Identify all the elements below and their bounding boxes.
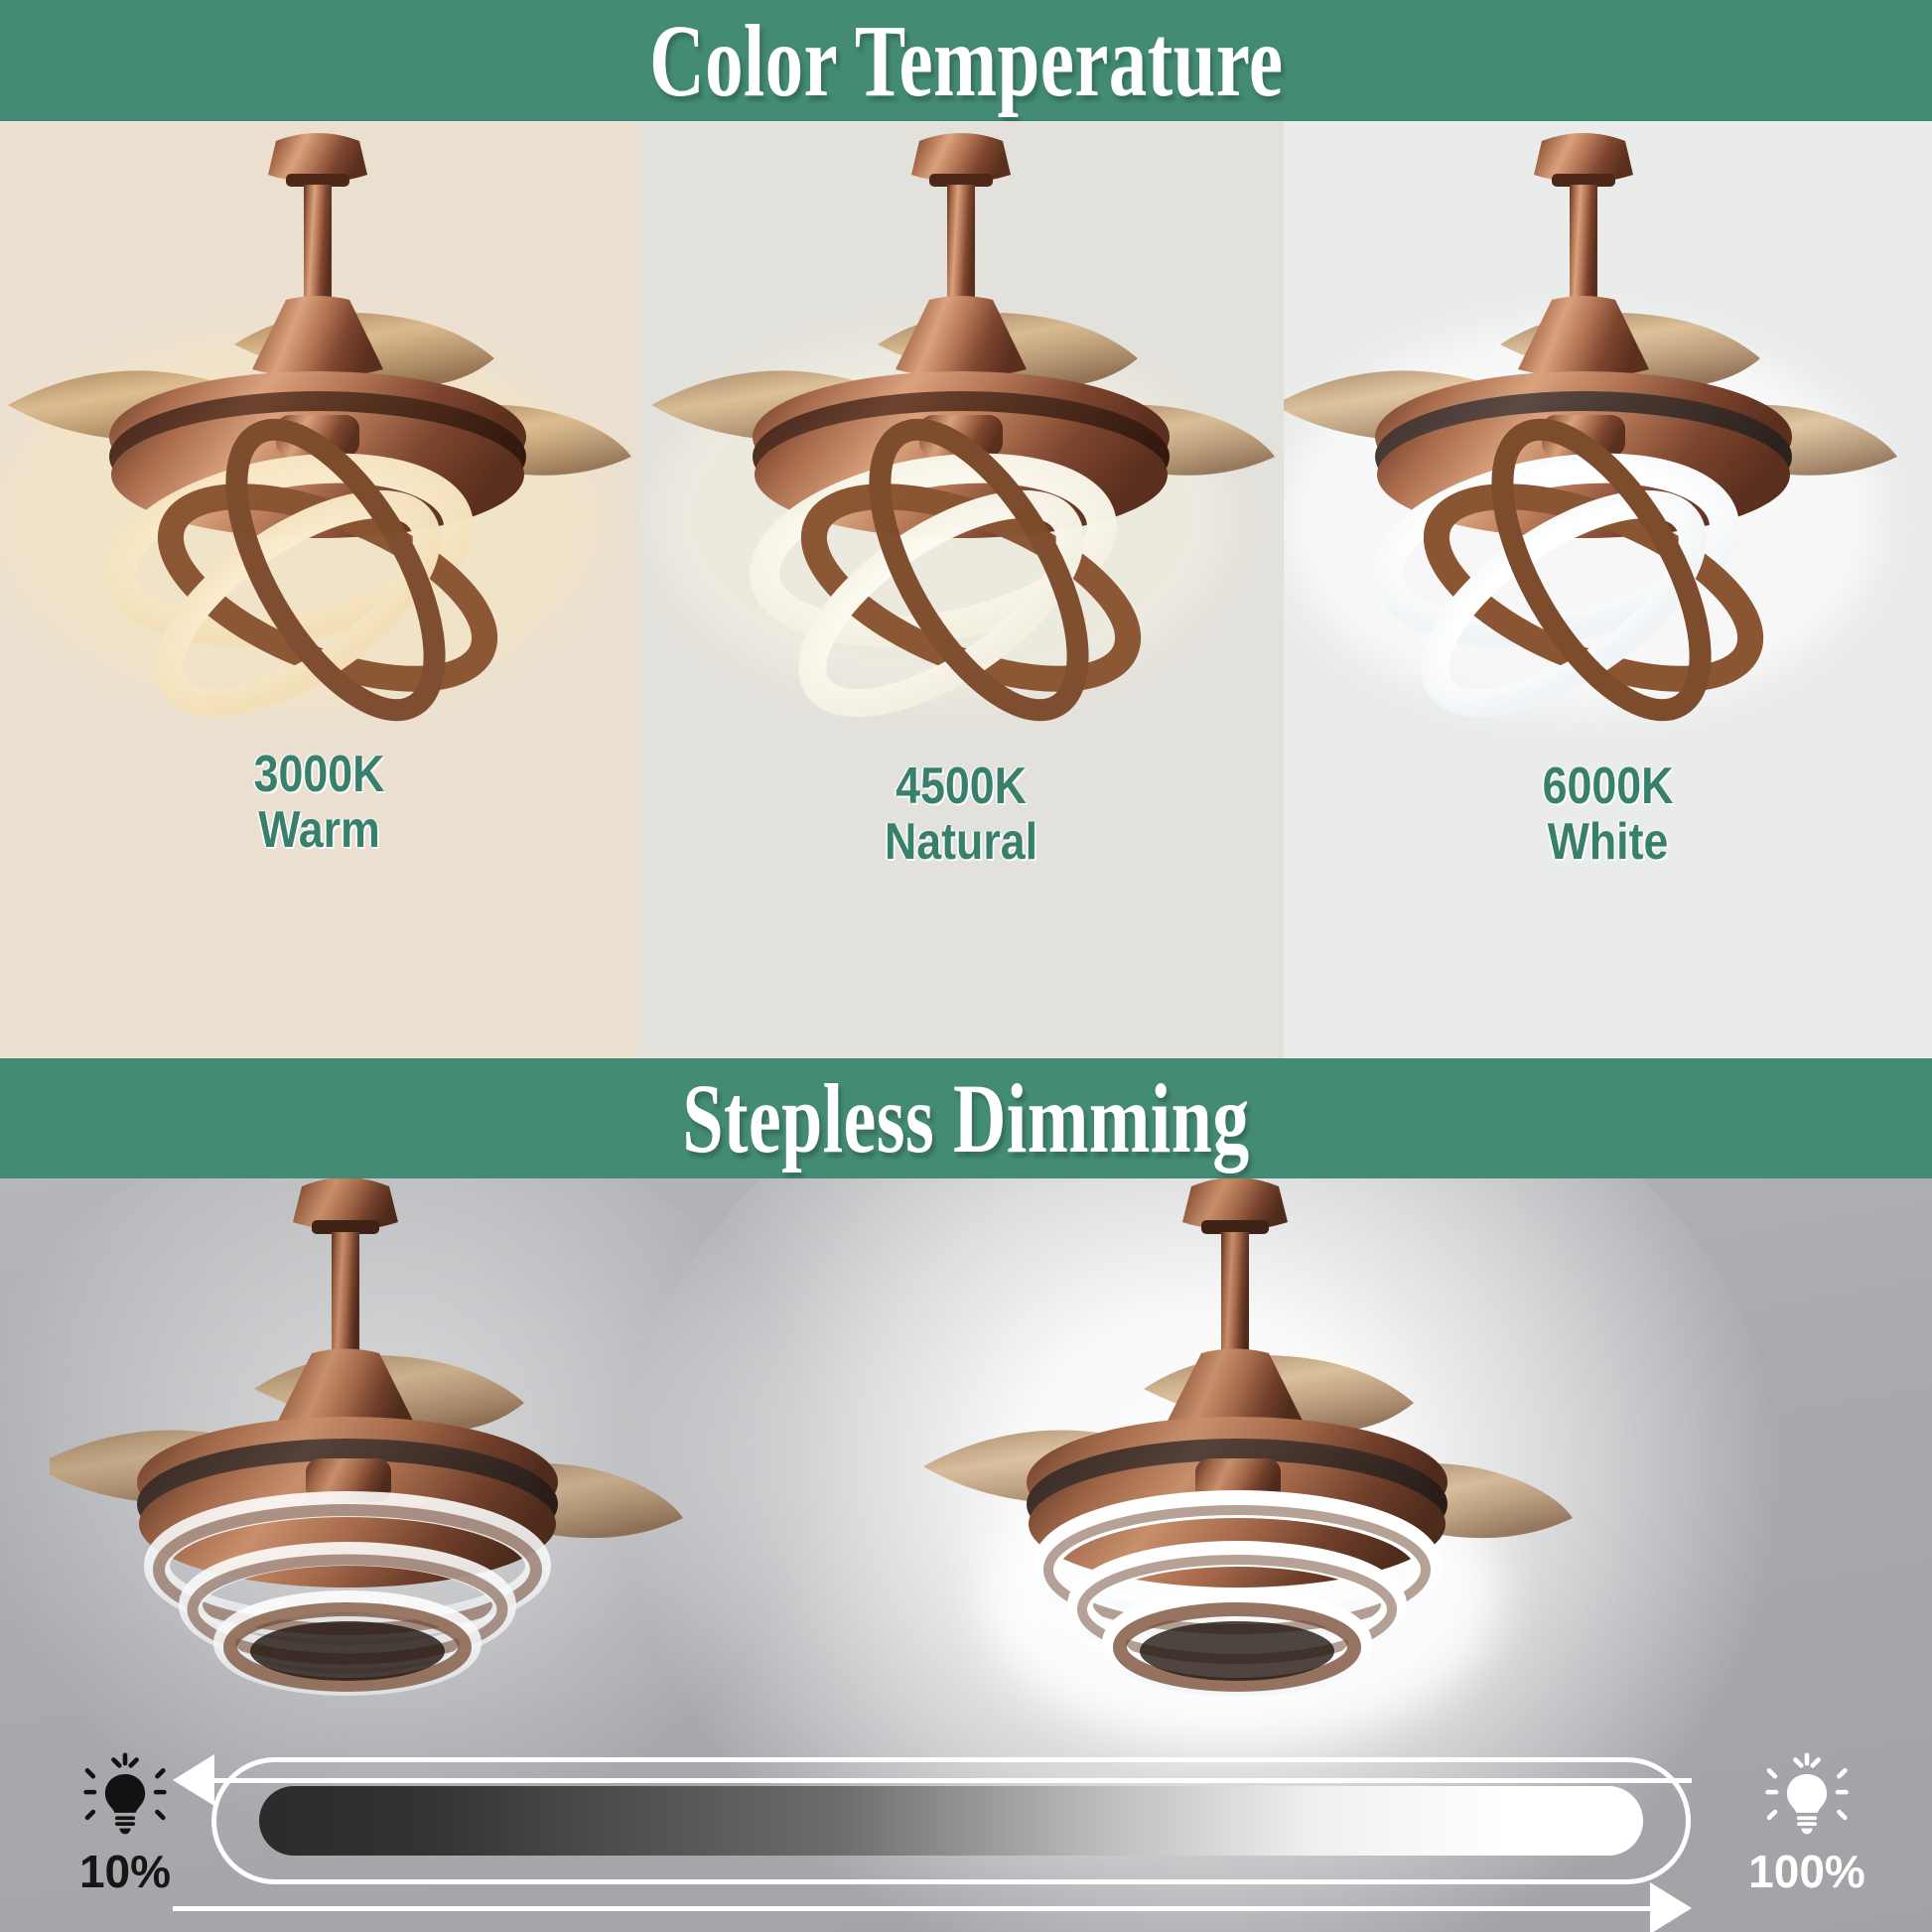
dimming-max-group: 100% — [1727, 1751, 1886, 1898]
dimming-slider-row: 10% — [0, 1733, 1932, 1932]
dimming-min-label: 10% — [46, 1845, 205, 1898]
ct-caption-3000k: 3000K Warm — [45, 747, 594, 858]
ct-name-4500k: Natural — [684, 814, 1239, 870]
color-temperature-strip: 3000K Warm — [0, 121, 1932, 1058]
ct-panel-6000k: 6000K White — [1284, 121, 1932, 1058]
ct-name-3000k: Warm — [45, 802, 594, 858]
light-bulb-icon — [79, 1751, 171, 1843]
dimming-slider-track[interactable] — [211, 1757, 1691, 1884]
ct-panel-3000k: 3000K Warm — [0, 121, 638, 1058]
fan-illustration-dim-low — [50, 1178, 745, 1784]
stepless-dimming-strip: 10% — [0, 1178, 1932, 1932]
infographic-page: Color Temperature — [0, 0, 1932, 1932]
banner-title-color-temperature: Color Temperature — [649, 2, 1283, 120]
ct-panel-4500k: 4500K Natural — [638, 121, 1284, 1058]
fan-illustration-6000k — [1284, 121, 1932, 816]
banner-stepless-dimming: Stepless Dimming — [0, 1058, 1932, 1178]
ct-caption-4500k: 4500K Natural — [684, 759, 1239, 870]
ct-name-6000k: White — [1329, 814, 1887, 870]
ct-caption-6000k: 6000K White — [1329, 759, 1887, 870]
ct-kelvin-4500k: 4500K — [684, 759, 1239, 814]
dimming-max-label: 100% — [1727, 1845, 1886, 1898]
dimming-slider-gradient[interactable] — [259, 1786, 1643, 1856]
ct-kelvin-6000k: 6000K — [1329, 759, 1887, 814]
banner-title-stepless-dimming: Stepless Dimming — [682, 1061, 1249, 1175]
banner-color-temperature: Color Temperature — [0, 0, 1932, 121]
ct-kelvin-3000k: 3000K — [45, 747, 594, 802]
fan-illustration-dim-high — [913, 1178, 1608, 1784]
fan-illustration-4500k — [638, 121, 1284, 816]
light-bulb-icon — [1761, 1751, 1853, 1843]
fan-illustration-3000k — [0, 121, 638, 816]
